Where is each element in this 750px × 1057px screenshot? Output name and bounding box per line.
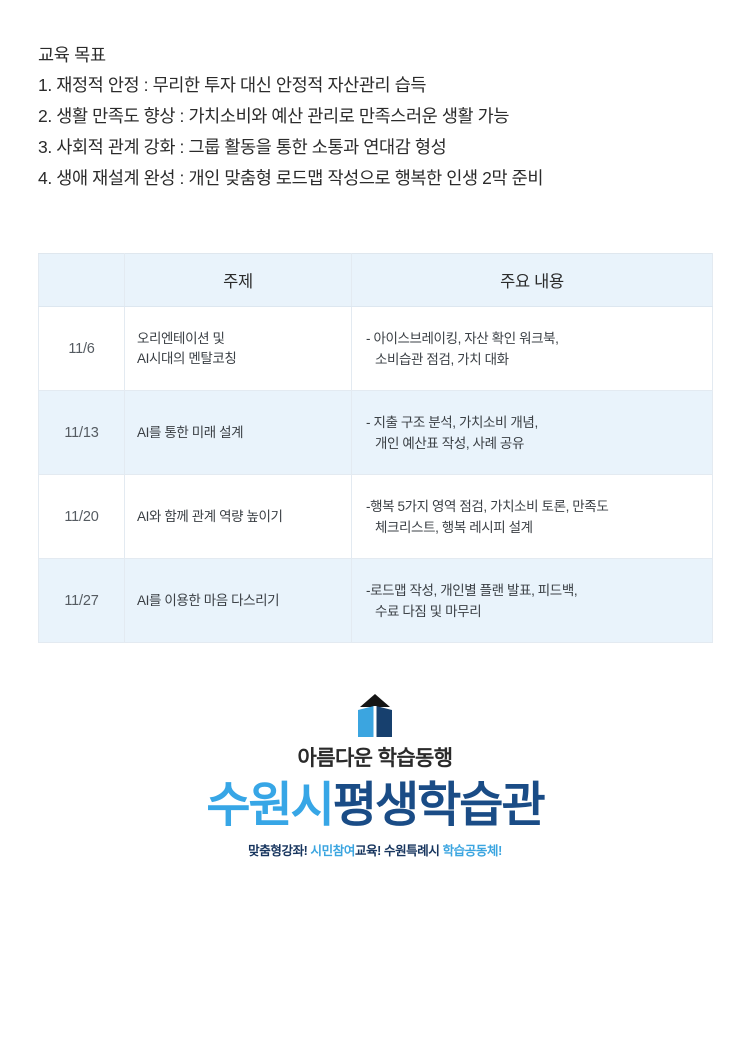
cell-topic: AI를 이용한 마음 다스리기 [125,559,352,643]
schedule-table: 주제 주요 내용 11/6 오리엔테이션 및 AI시대의 멘탈코칭 - 아이스브… [38,253,713,643]
tagline-run-4: 교육! [355,844,381,858]
cell-topic: AI와 함께 관계 역량 높이기 [125,475,352,559]
education-goals-block: 교육 목표 1. 재정적 안정 : 무리한 투자 대신 안정적 자산관리 습득 … [38,40,718,194]
table-row: 11/27 AI를 이용한 마음 다스리기 -로드맵 작성, 개인별 플랜 발표… [39,559,713,643]
tagline-run-0: 맞춤형 [248,844,281,858]
cell-content-line2: 체크리스트, 행복 레시피 설계 [366,517,712,538]
cell-content-line2: 수료 다짐 및 마무리 [366,601,712,622]
logo-wordmark-institute: 평생학습관 [333,779,544,832]
book-house-icon [354,694,396,738]
cell-topic-line1: AI와 함께 관계 역량 높이기 [137,507,351,527]
logo-subtitle: 아름다운 학습동행 [0,742,750,772]
tagline-run-3: 시민참여 [311,844,355,858]
tagline-run-6: 학습공동체! [443,844,502,858]
cell-date: 11/6 [39,307,125,391]
tagline-run-5: 수원특례시 [381,844,443,858]
table-row: 11/20 AI와 함께 관계 역량 높이기 -행복 5가지 영역 점검, 가치… [39,475,713,559]
tagline-run-1: 강좌! [281,844,307,858]
cell-content-line1: - 아이스브레이킹, 자산 확인 워크북, [366,328,712,349]
logo-tagline: 맞춤형강좌! 시민참여교육! 수원특례시 학습공동체! [0,840,750,859]
table-header: 주제 주요 내용 [39,254,713,307]
column-header-date [39,254,125,307]
logo-wordmark: 수원시평생학습관 [0,778,750,834]
cell-content-line2: 소비습관 점검, 가치 대화 [366,349,712,370]
column-header-topic: 주제 [125,254,352,307]
book-spine [374,706,377,737]
cell-content-line1: -행복 5가지 영역 점검, 가치소비 토론, 만족도 [366,496,712,517]
book-page-left [358,706,374,737]
cell-date: 11/13 [39,391,125,475]
table-row: 11/6 오리엔테이션 및 AI시대의 멘탈코칭 - 아이스브레이킹, 자산 확… [39,307,713,391]
cell-content: -로드맵 작성, 개인별 플랜 발표, 피드백, 수료 다짐 및 마무리 [352,559,713,643]
cell-topic-line1: AI를 이용한 마음 다스리기 [137,591,351,611]
cell-content-line1: - 지출 구조 분석, 가치소비 개념, [366,412,712,433]
cell-content: - 지출 구조 분석, 가치소비 개념, 개인 예산표 작성, 사례 공유 [352,391,713,475]
cell-content: -행복 5가지 영역 점검, 가치소비 토론, 만족도 체크리스트, 행복 레시… [352,475,713,559]
cell-topic-line1: AI를 통한 미래 설계 [137,423,351,443]
cell-topic: 오리엔테이션 및 AI시대의 멘탈코칭 [125,307,352,391]
cell-topic-line1: 오리엔테이션 및 [137,329,351,349]
cell-content: - 아이스브레이킹, 자산 확인 워크북, 소비습관 점검, 가치 대화 [352,307,713,391]
table-header-row: 주제 주요 내용 [39,254,713,307]
cell-content-line2: 개인 예산표 작성, 사례 공유 [366,433,712,454]
cell-content-line1: -로드맵 작성, 개인별 플랜 발표, 피드백, [366,580,712,601]
goal-item-3: 3. 사회적 관계 강화 : 그룹 활동을 통한 소통과 연대감 형성 [38,132,718,163]
cell-topic-line2: AI시대의 멘탈코칭 [137,349,351,369]
cell-date: 11/20 [39,475,125,559]
organization-logo: 아름다운 학습동행 수원시평생학습관 맞춤형강좌! 시민참여교육! 수원특례시 … [0,694,750,859]
goal-item-1: 1. 재정적 안정 : 무리한 투자 대신 안정적 자산관리 습득 [38,70,718,101]
page-title: 교육 목표 [38,40,718,70]
table-row: 11/13 AI를 통한 미래 설계 - 지출 구조 분석, 가치소비 개념, … [39,391,713,475]
goal-item-2: 2. 생활 만족도 향상 : 가치소비와 예산 관리로 만족스러운 생활 가능 [38,101,718,132]
cell-topic: AI를 통한 미래 설계 [125,391,352,475]
goal-item-4: 4. 생애 재설계 완성 : 개인 맞춤형 로드맵 작성으로 행복한 인생 2막… [38,163,718,194]
column-header-content: 주요 내용 [352,254,713,307]
logo-wordmark-city: 수원시 [206,779,332,832]
cell-date: 11/27 [39,559,125,643]
table-body: 11/6 오리엔테이션 및 AI시대의 멘탈코칭 - 아이스브레이킹, 자산 확… [39,307,713,643]
book-page-right [376,706,392,737]
